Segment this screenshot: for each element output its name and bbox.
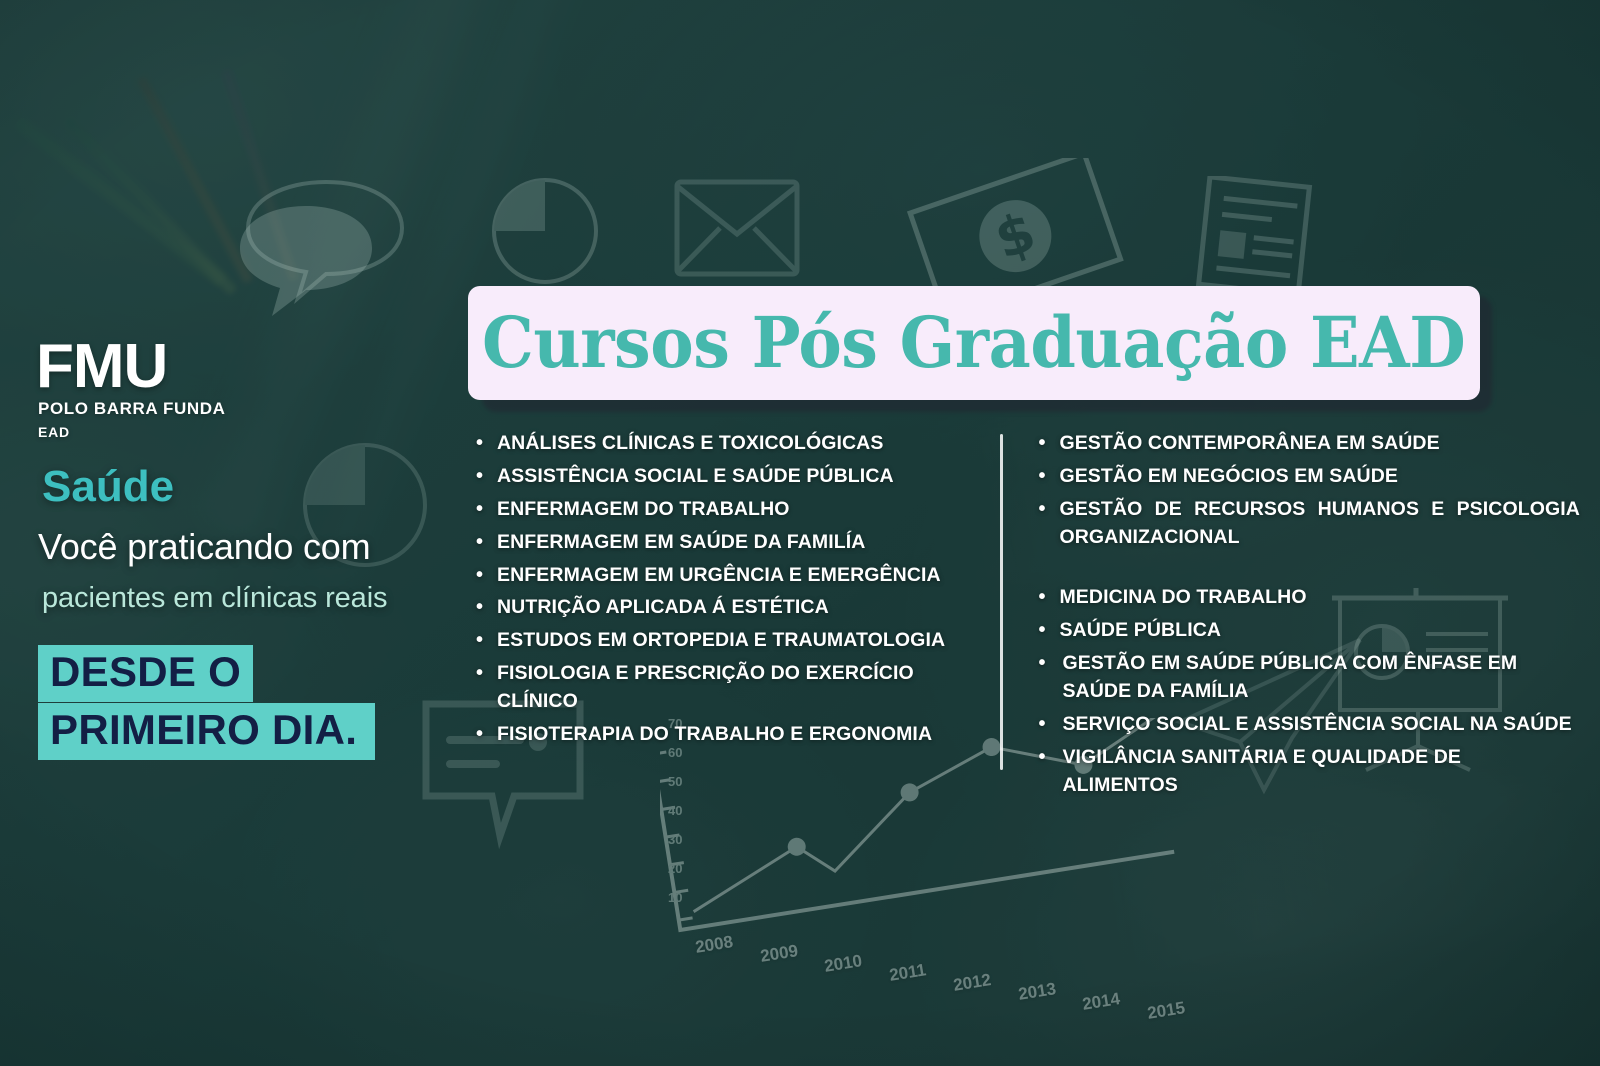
list-item[interactable]: FISIOTERAPIA DO TRABALHO E ERGONOMIA (470, 721, 978, 749)
list-item[interactable]: ENFERMAGEM EM SAÚDE DA FAMILÍA (470, 529, 978, 557)
campus-label: POLO BARRA FUNDA (38, 399, 432, 419)
pie-chart-icon (490, 176, 600, 286)
modality-label: EAD (38, 424, 432, 440)
list-item[interactable]: NUTRIÇÃO APLICADA Á ESTÉTICA (470, 594, 978, 622)
course-list-right: GESTÃO CONTEMPORÂNEA EM SAÚDE GESTÃO EM … (1032, 430, 1580, 800)
list-item[interactable]: GESTÃO EM SAÚDE PÚBLICA COM ÊNFASE EM SA… (1032, 650, 1580, 706)
list-item[interactable]: ESTUDOS EM ORTOPEDIA E TRAUMATOLOGIA (470, 627, 978, 655)
course-column-right: GESTÃO CONTEMPORÂNEA EM SAÚDE GESTÃO EM … (1008, 430, 1580, 805)
tagline-primary: Você praticando com (38, 526, 432, 568)
envelope-icon (672, 172, 802, 282)
area-title: Saúde (42, 462, 432, 512)
list-item[interactable]: FISIOLOGIA E PRESCRIÇÃO DO EXERCÍCIO CLÍ… (470, 660, 978, 716)
list-item[interactable]: ANÁLISES CLÍNICAS E TOXICOLÓGICAS (470, 430, 978, 458)
tagline-secondary: pacientes em clínicas reais (42, 582, 432, 615)
speech-bubble-icon (232, 200, 377, 330)
course-column-left: ANÁLISES CLÍNICAS E TOXICOLÓGICAS ASSIST… (470, 430, 978, 805)
cta-block: DESDE O PRIMEIRO DIA. (38, 645, 432, 760)
list-item[interactable]: ENFERMAGEM EM URGÊNCIA E EMERGÊNCIA (470, 562, 978, 590)
course-lists: ANÁLISES CLÍNICAS E TOXICOLÓGICAS ASSIST… (470, 430, 1580, 805)
brand-panel: FMU POLO BARRA FUNDA EAD Saúde Você prat… (32, 338, 432, 760)
cta-line-1: DESDE O (38, 645, 253, 702)
list-item[interactable]: GESTÃO CONTEMPORÂNEA EM SAÚDE (1032, 430, 1580, 458)
list-item[interactable]: ASSISTÊNCIA SOCIAL E SAÚDE PÚBLICA (470, 463, 978, 491)
cta-line-2: PRIMEIRO DIA. (38, 703, 375, 760)
list-item[interactable]: GESTÃO DE RECURSOS HUMANOS E PSICOLOGIA … (1032, 496, 1580, 580)
list-item[interactable]: GESTÃO EM NEGÓCIOS EM SAÚDE (1032, 463, 1580, 491)
page-title: Cursos Pós Graduação EAD (482, 308, 1465, 378)
list-item[interactable]: MEDICINA DO TRABALHO (1032, 584, 1580, 612)
list-item[interactable]: ENFERMAGEM DO TRABALHO (470, 496, 978, 524)
poster-root: $ (0, 0, 1600, 1066)
list-item[interactable]: SAÚDE PÚBLICA (1032, 617, 1580, 645)
fmu-logo: FMU (36, 338, 432, 397)
document-icon (1196, 176, 1316, 296)
course-list-left: ANÁLISES CLÍNICAS E TOXICOLÓGICAS ASSIST… (470, 430, 978, 749)
title-banner: Cursos Pós Graduação EAD (468, 286, 1480, 400)
list-item[interactable]: VIGILÂNCIA SANITÁRIA E QUALIDADE DE ALIM… (1032, 744, 1580, 800)
list-item[interactable]: SERVIÇO SOCIAL E ASSISTÊNCIA SOCIAL NA S… (1032, 711, 1580, 739)
